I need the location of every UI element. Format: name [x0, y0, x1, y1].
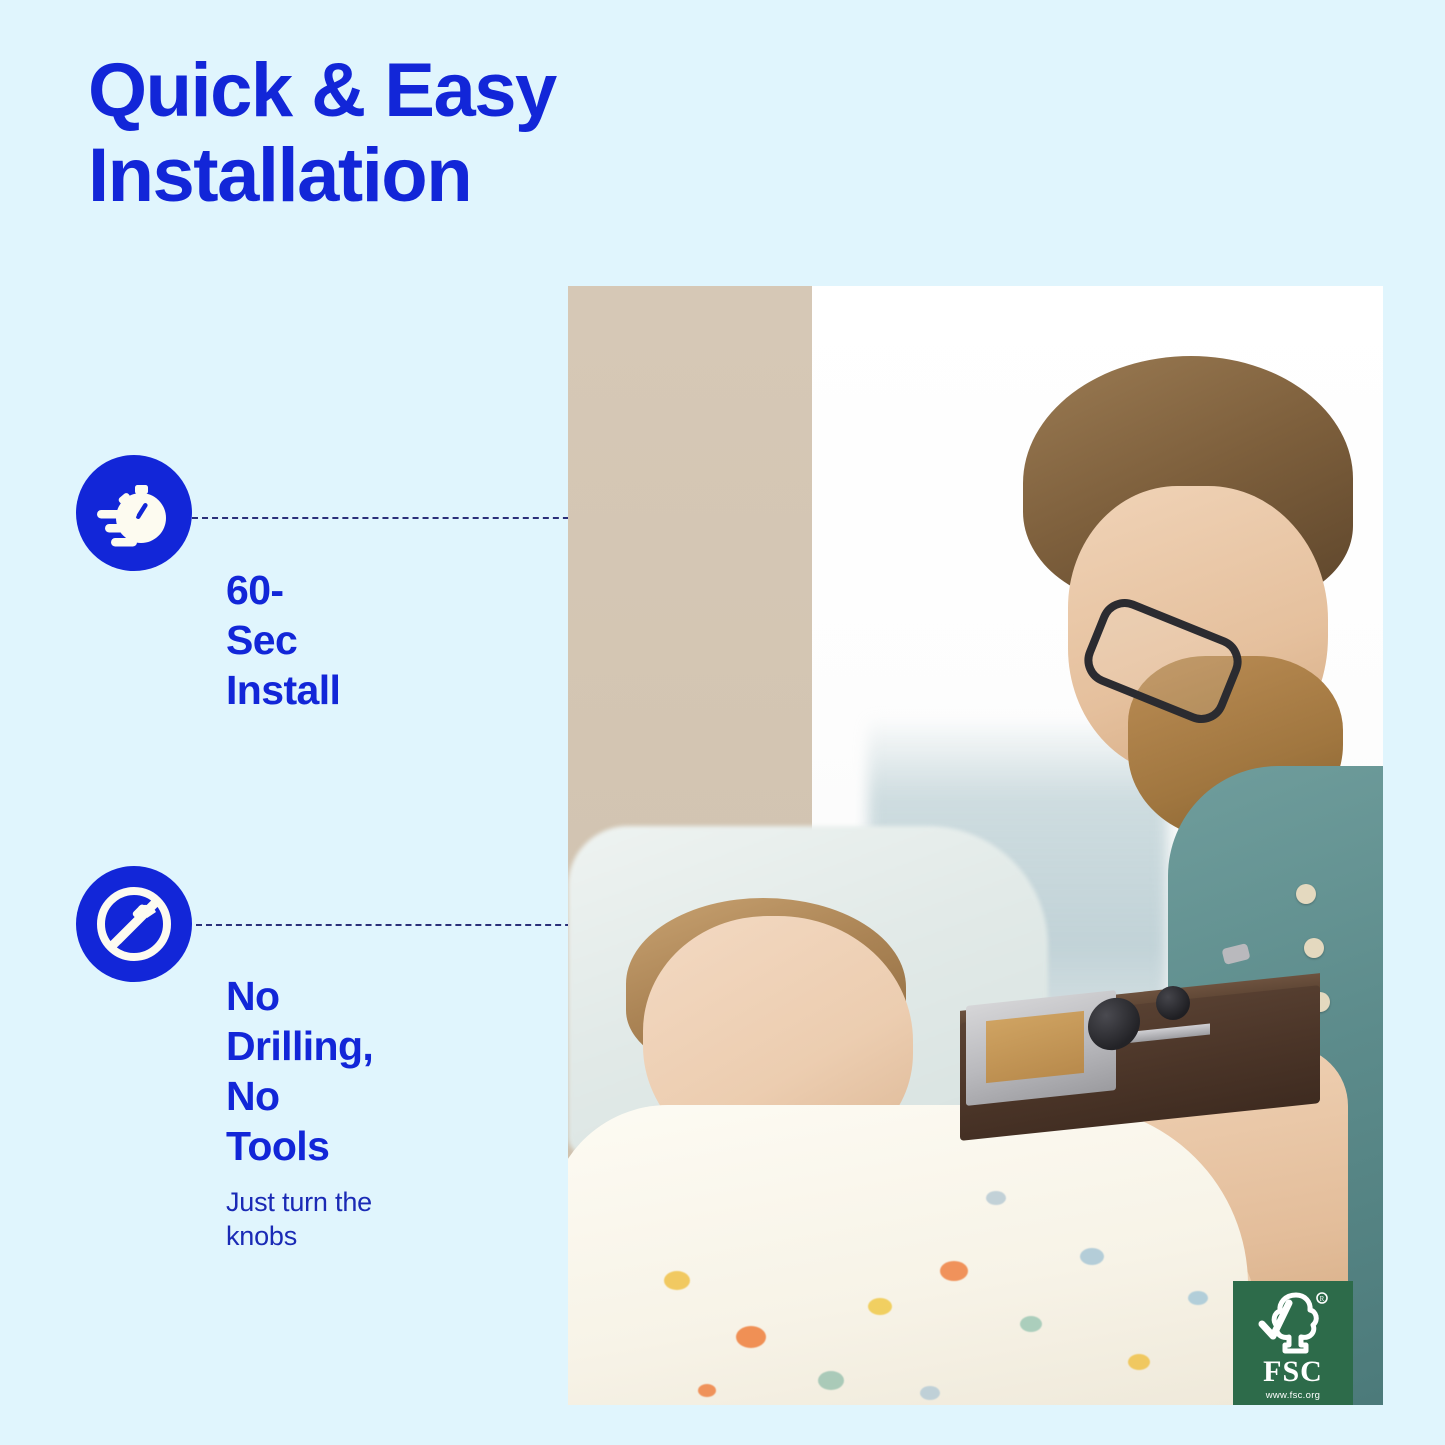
shirt-button: [1296, 884, 1316, 904]
bed-rail-knob: [1156, 986, 1190, 1020]
bedding-dot: [664, 1271, 690, 1290]
bedding-dot: [1188, 1291, 1208, 1305]
bed-rail-wood-insert: [986, 1011, 1084, 1083]
bedding-dot: [1128, 1354, 1150, 1370]
svg-text:R: R: [1320, 1295, 1325, 1303]
feature-text-block: No Drilling, No Tools Just turn the knob…: [226, 971, 373, 1253]
feature-item-60-sec-install: 60-Sec Install: [76, 455, 192, 571]
no-tools-hammer-icon: [76, 866, 192, 982]
bedding-dot: [868, 1298, 892, 1315]
page-title: Quick & Easy Installation: [88, 48, 708, 218]
product-lifestyle-photo: [568, 286, 1383, 1405]
stopwatch-speed-icon: [76, 455, 192, 571]
feature-text-block: 60-Sec Install: [226, 565, 340, 715]
fsc-url: www.fsc.org: [1266, 1391, 1321, 1401]
feature-title: 60-Sec Install: [226, 565, 340, 715]
bedding-dot: [736, 1326, 766, 1348]
feature-item-no-drilling-no-tools: No Drilling, No Tools Just turn the knob…: [76, 866, 192, 982]
feature-title: No Drilling, No Tools: [226, 971, 373, 1171]
fsc-tree-checkmark-icon: R: [1256, 1289, 1330, 1355]
bedding-dot: [1020, 1316, 1042, 1332]
bedding-dot: [986, 1191, 1006, 1205]
bedding-dot: [920, 1386, 940, 1400]
fsc-wordmark: FSC: [1263, 1357, 1323, 1387]
shirt-button: [1304, 938, 1324, 958]
feature-subtitle: Just turn the knobs: [226, 1185, 373, 1253]
bedding-dot: [1080, 1248, 1104, 1265]
bedding-dot: [698, 1384, 716, 1397]
fsc-certification-logo: R FSC www.fsc.org: [1233, 1281, 1353, 1405]
bedding-dot: [940, 1261, 968, 1281]
bedding-dot: [818, 1371, 844, 1390]
